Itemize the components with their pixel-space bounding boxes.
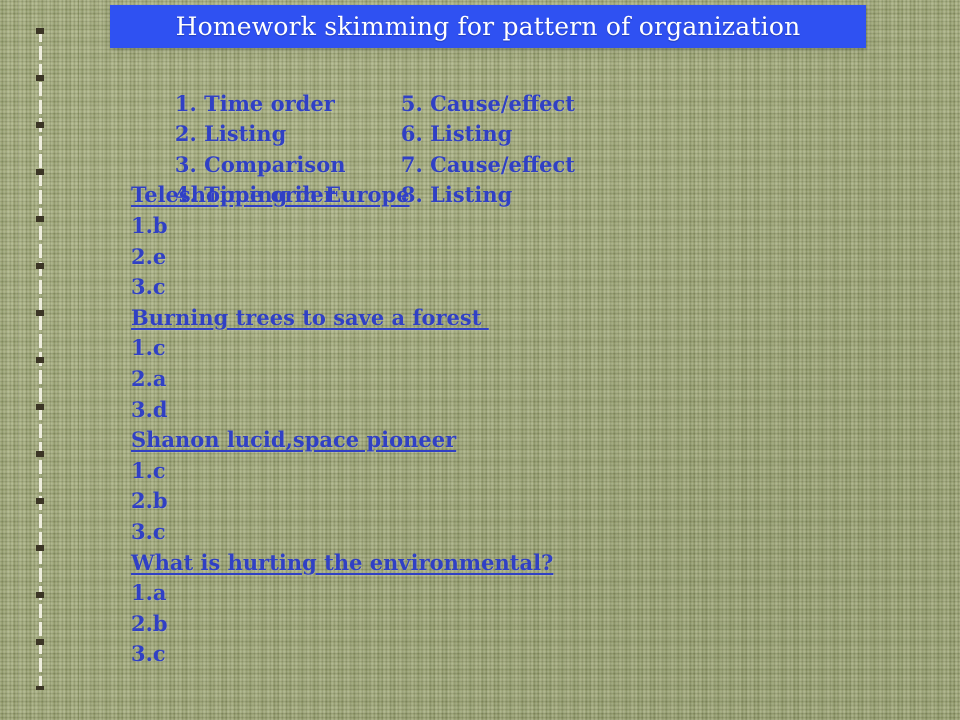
answer-item-2: 2. Listing	[175, 119, 401, 150]
answer-item-5: 5. Cause/effect	[401, 89, 575, 120]
section-answer: 2.e	[131, 242, 891, 273]
binding-thread	[39, 28, 42, 690]
answer-item-6: 6. Listing	[401, 119, 512, 150]
section-heading: Shanon lucid,space pioneer	[131, 425, 891, 456]
answer-key-content: 1. Time order5. Cause/effect 2. Listing6…	[131, 58, 891, 670]
section-answer: 3.c	[131, 639, 891, 670]
answer-item-7: 7. Cause/effect	[401, 150, 575, 181]
page-title: Homework skimming for pattern of organiz…	[176, 12, 801, 41]
section-answer: 2.b	[131, 609, 891, 640]
section-answer: 3.c	[131, 517, 891, 548]
page-seam-line-inner	[78, 0, 79, 720]
slide-title-bar: Homework skimming for pattern of organiz…	[110, 5, 866, 48]
section-answer: 1.c	[131, 333, 891, 364]
binding-staples	[36, 28, 44, 690]
section-answer: 3.c	[131, 272, 891, 303]
answer-item-1: 1. Time order	[175, 89, 401, 120]
stitched-binding-icon	[36, 28, 44, 690]
section-heading: Burning trees to save a forest	[131, 303, 891, 334]
slide-canvas: Homework skimming for pattern of organiz…	[0, 0, 960, 720]
section-answer: 1.c	[131, 456, 891, 487]
section-heading: What is hurting the environmental?	[131, 548, 891, 579]
section-answer: 1.a	[131, 578, 891, 609]
section-answer: 3.d	[131, 395, 891, 426]
answer-item-8: 8. Listing	[401, 180, 512, 211]
page-seam-line-inner-highlight	[79, 0, 80, 720]
answer-row: 1. Time order5. Cause/effect	[131, 58, 891, 89]
answer-item-3: 3. Comparison	[175, 150, 401, 181]
section-answer: 2.b	[131, 486, 891, 517]
page-seam-line-left	[18, 0, 19, 720]
section-answer: 1.b	[131, 211, 891, 242]
section-answer: 2.a	[131, 364, 891, 395]
